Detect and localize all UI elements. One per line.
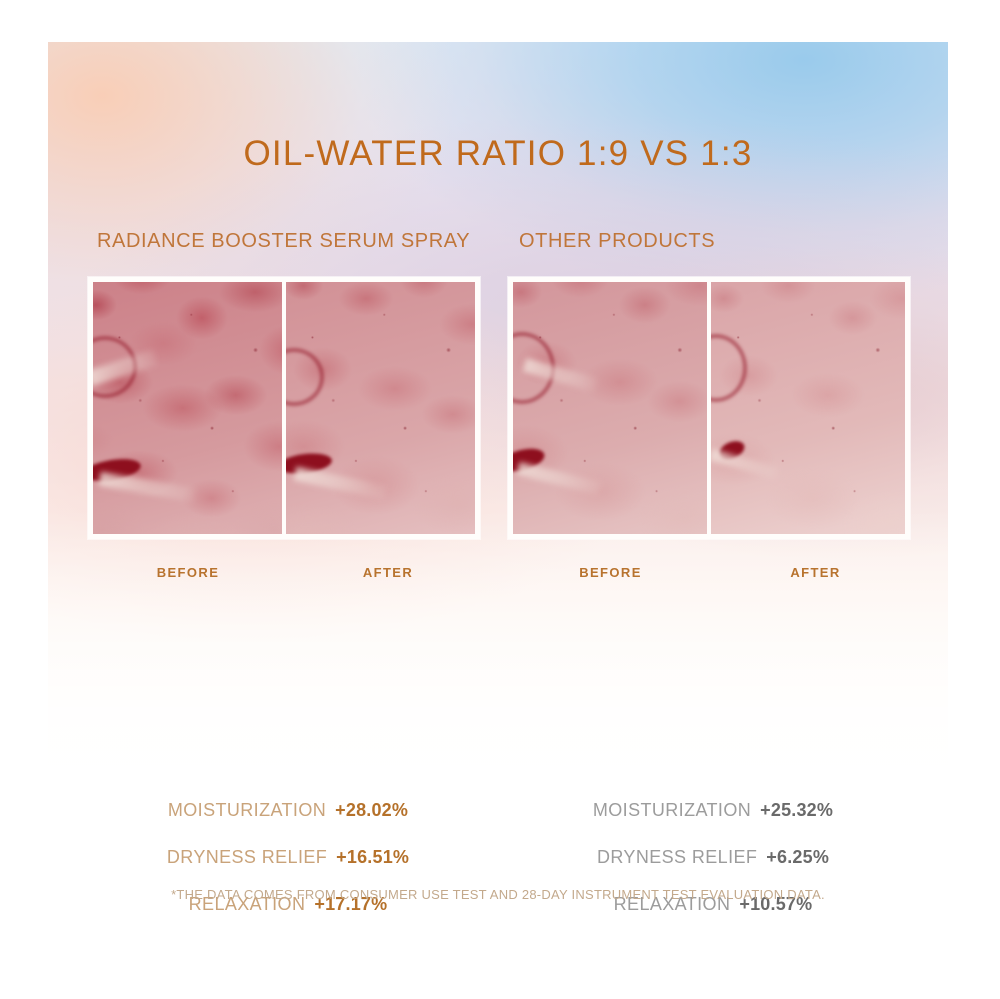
stat-label: DRYNESS RELIEF	[597, 847, 757, 868]
photo-pair-frame	[508, 277, 910, 539]
skin-speckles	[513, 282, 707, 534]
stat-row: MOISTURIZATION +28.02%	[88, 800, 488, 821]
stat-label: MOISTURIZATION	[593, 800, 751, 821]
stats-list: MOISTURIZATION +25.32% DRYNESS RELIEF +6…	[508, 800, 918, 940]
after-skin-photo	[711, 282, 905, 534]
stat-row: DRYNESS RELIEF +16.51%	[88, 847, 488, 868]
column-heading: RADIANCE BOOSTER SERUM SPRAY	[97, 230, 488, 253]
stat-value: +16.51%	[336, 847, 409, 868]
before-label: BEFORE	[88, 565, 288, 580]
infographic-canvas: OIL-WATER RATIO 1:9 VS 1:3 RADIANCE BOOS…	[0, 0, 1000, 999]
after-label: AFTER	[288, 565, 488, 580]
stat-label: DRYNESS RELIEF	[167, 847, 327, 868]
skin-speckles	[711, 282, 905, 534]
before-skin-photo	[513, 282, 707, 534]
page-title: OIL-WATER RATIO 1:9 VS 1:3	[48, 134, 948, 174]
after-skin-photo	[286, 282, 475, 534]
stat-value: +28.02%	[335, 800, 408, 821]
footnote: *THE DATA COMES FROM CONSUMER USE TEST A…	[48, 887, 948, 902]
column-heading: OTHER PRODUCTS	[519, 230, 918, 253]
stat-row: DRYNESS RELIEF +6.25%	[508, 847, 918, 868]
stat-label: MOISTURIZATION	[168, 800, 326, 821]
before-after-captions: BEFORE AFTER	[88, 565, 488, 580]
before-skin-photo	[93, 282, 282, 534]
infographic-card: OIL-WATER RATIO 1:9 VS 1:3 RADIANCE BOOS…	[48, 42, 948, 940]
stat-row: MOISTURIZATION +25.32%	[508, 800, 918, 821]
after-label: AFTER	[713, 565, 918, 580]
stat-value: +25.32%	[760, 800, 833, 821]
before-label: BEFORE	[508, 565, 713, 580]
before-after-captions: BEFORE AFTER	[508, 565, 918, 580]
column-radiance-booster: RADIANCE BOOSTER SERUM SPRAY	[88, 230, 488, 580]
stats-list: MOISTURIZATION +28.02% DRYNESS RELIEF +1…	[88, 800, 488, 940]
column-other-products: OTHER PRODUCTS	[508, 230, 918, 580]
photo-pair-frame	[88, 277, 480, 539]
stat-value: +6.25%	[766, 847, 829, 868]
